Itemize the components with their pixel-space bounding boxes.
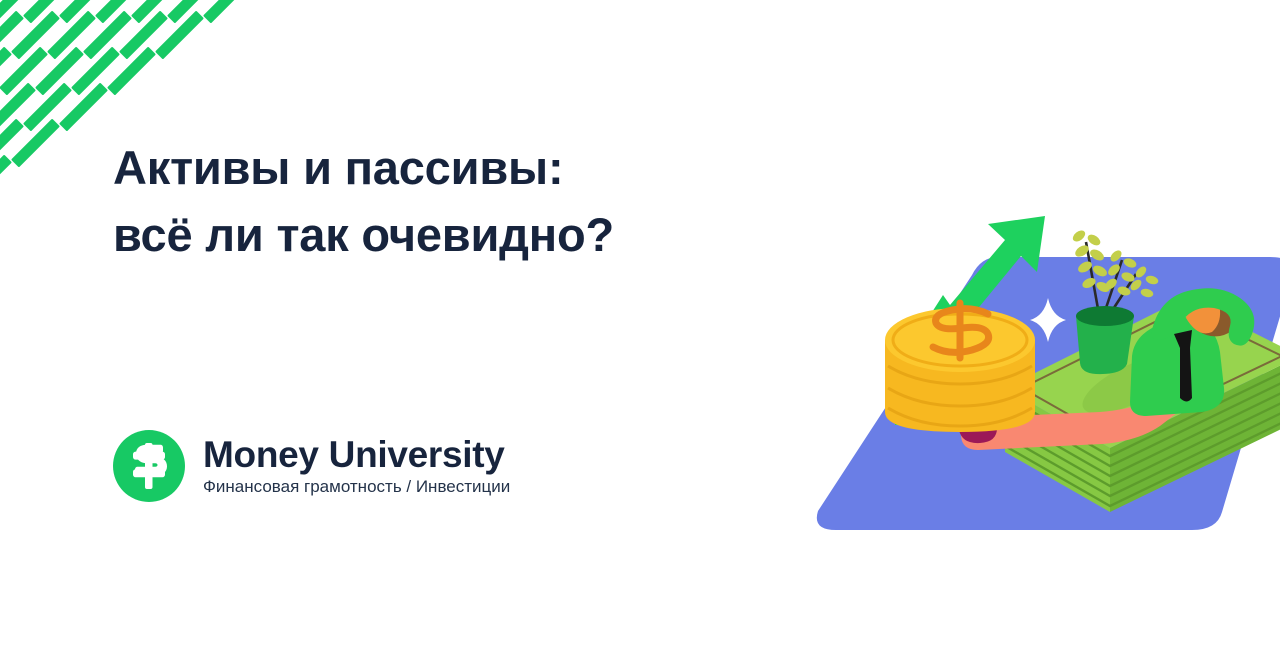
dash-mark xyxy=(95,0,144,23)
dash-mark xyxy=(0,119,24,168)
dash-mark xyxy=(0,47,12,96)
dash-mark xyxy=(35,47,84,96)
dash-mark xyxy=(167,0,216,23)
gold-coin-stack xyxy=(885,303,1035,432)
dash-mark xyxy=(11,11,60,60)
dash-mark xyxy=(71,47,120,96)
dash-mark xyxy=(83,11,132,60)
dash-mark xyxy=(0,155,12,204)
dash-mark xyxy=(107,47,156,96)
page-title-line-2: всё ли так очевидно? xyxy=(113,201,614,268)
dollar-sign-icon xyxy=(113,430,185,502)
dash-mark xyxy=(203,0,252,23)
dash-mark xyxy=(11,119,60,168)
dash-mark xyxy=(155,11,204,60)
dash-mark xyxy=(59,83,108,132)
dash-mark xyxy=(0,11,24,60)
illustration-man-relaxing-on-money xyxy=(800,120,1280,540)
brand-text-block: Money University Финансовая грамотность … xyxy=(203,435,510,498)
dash-mark xyxy=(131,0,180,23)
dash-mark xyxy=(0,47,48,96)
dash-mark xyxy=(23,83,72,132)
page-title: Активы и пассивы: всё ли так очевидно? xyxy=(113,134,614,268)
dash-mark xyxy=(0,83,36,132)
dash-mark xyxy=(0,0,36,23)
diagonal-dash-pattern xyxy=(0,0,200,150)
brand-logo-lockup[interactable]: Money University Финансовая грамотность … xyxy=(113,430,510,502)
brand-tagline: Финансовая грамотность / Инвестиции xyxy=(203,476,510,498)
poster-canvas: Активы и пассивы: всё ли так очевидно? M… xyxy=(0,0,1280,669)
brand-name: Money University xyxy=(203,435,510,474)
dash-mark xyxy=(59,0,108,23)
page-title-line-1: Активы и пассивы: xyxy=(113,134,614,201)
dash-mark xyxy=(23,0,72,23)
dash-mark xyxy=(47,11,96,60)
dash-mark xyxy=(119,11,168,60)
